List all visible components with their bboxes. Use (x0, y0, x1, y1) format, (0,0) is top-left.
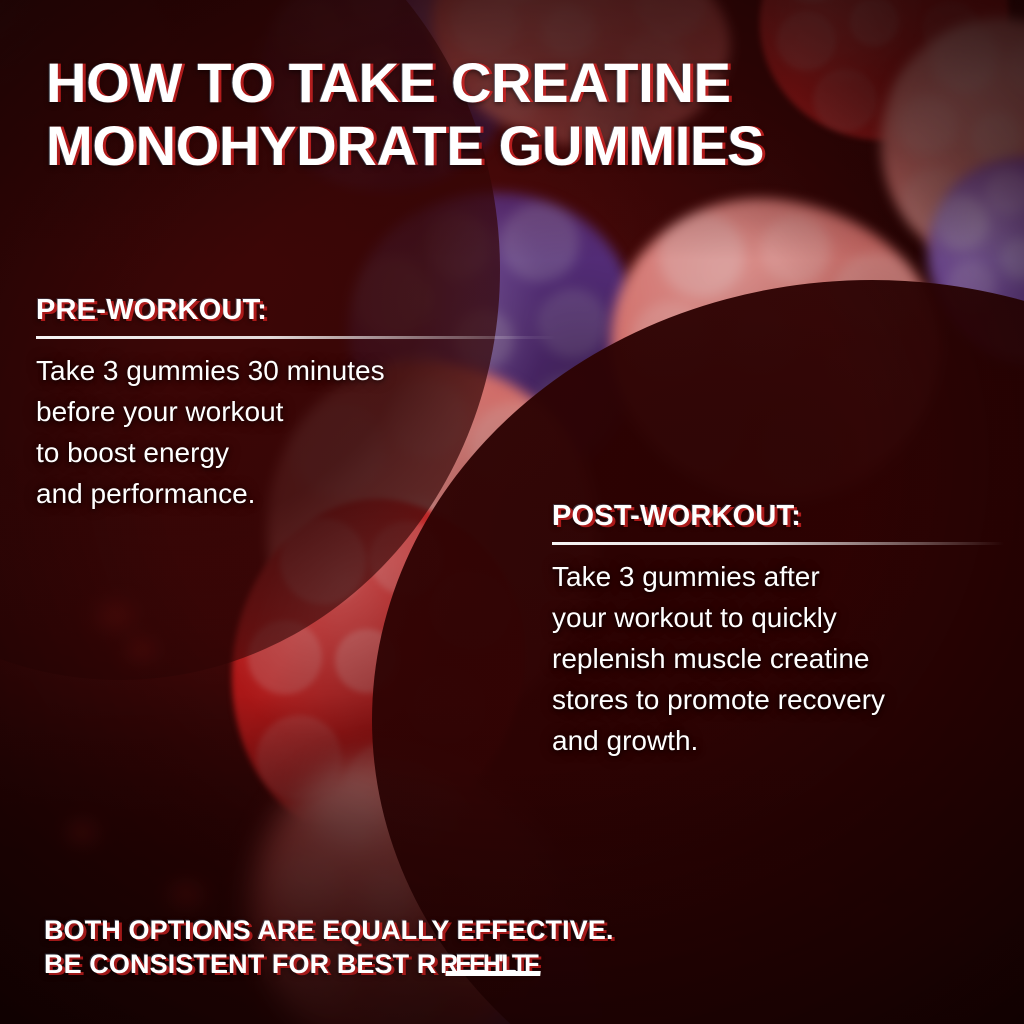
pre-workout-section: PRE-WORKOUT: Take 3 gummies 30 minutes b… (36, 294, 556, 515)
footer-glitch-word: REEH'LTF (441, 947, 538, 982)
post-workout-body-line-3: replenish muscle creatine (552, 639, 1004, 680)
pre-workout-underline (36, 336, 556, 339)
pre-workout-body-line-3: to boost energy (36, 433, 556, 474)
post-workout-underline (552, 542, 1004, 545)
footer-line-1: BOTH OPTIONS ARE EQUALLY EFFECTIVE. (44, 913, 614, 948)
page-title-line-1: HOW TO TAKE CREATINE (46, 52, 946, 115)
post-workout-body-line-2: your workout to quickly (552, 598, 1004, 639)
footer-line-2: BE CONSISTENT FOR BEST RREEH'LTF (44, 947, 614, 982)
pre-workout-body: Take 3 gummies 30 minutes before your wo… (36, 351, 556, 515)
creatine-gummies-infographic: HOW TO TAKE CREATINE MONOHYDRATE GUMMIES… (0, 0, 1024, 1024)
post-workout-body-line-1: Take 3 gummies after (552, 557, 1004, 598)
post-workout-body-line-4: stores to promote recovery (552, 680, 1004, 721)
pre-workout-body-line-4: and performance. (36, 474, 556, 515)
footer-callout: BOTH OPTIONS ARE EQUALLY EFFECTIVE. BE C… (44, 913, 614, 982)
post-workout-section: POST-WORKOUT: Take 3 gummies after your … (552, 500, 1004, 761)
post-workout-body-line-5: and growth. (552, 721, 1004, 762)
pre-workout-body-line-1: Take 3 gummies 30 minutes (36, 351, 556, 392)
footer-line-2-text: BE CONSISTENT FOR BEST R (44, 949, 436, 979)
pre-workout-heading: PRE-WORKOUT: (36, 294, 556, 327)
post-workout-body: Take 3 gummies after your workout to qui… (552, 557, 1004, 761)
pre-workout-body-line-2: before your workout (36, 392, 556, 433)
poster-content: HOW TO TAKE CREATINE MONOHYDRATE GUMMIES… (0, 0, 1024, 1024)
page-title: HOW TO TAKE CREATINE MONOHYDRATE GUMMIES (46, 52, 946, 177)
page-title-line-2: MONOHYDRATE GUMMIES (46, 115, 946, 178)
post-workout-heading: POST-WORKOUT: (552, 500, 1004, 533)
